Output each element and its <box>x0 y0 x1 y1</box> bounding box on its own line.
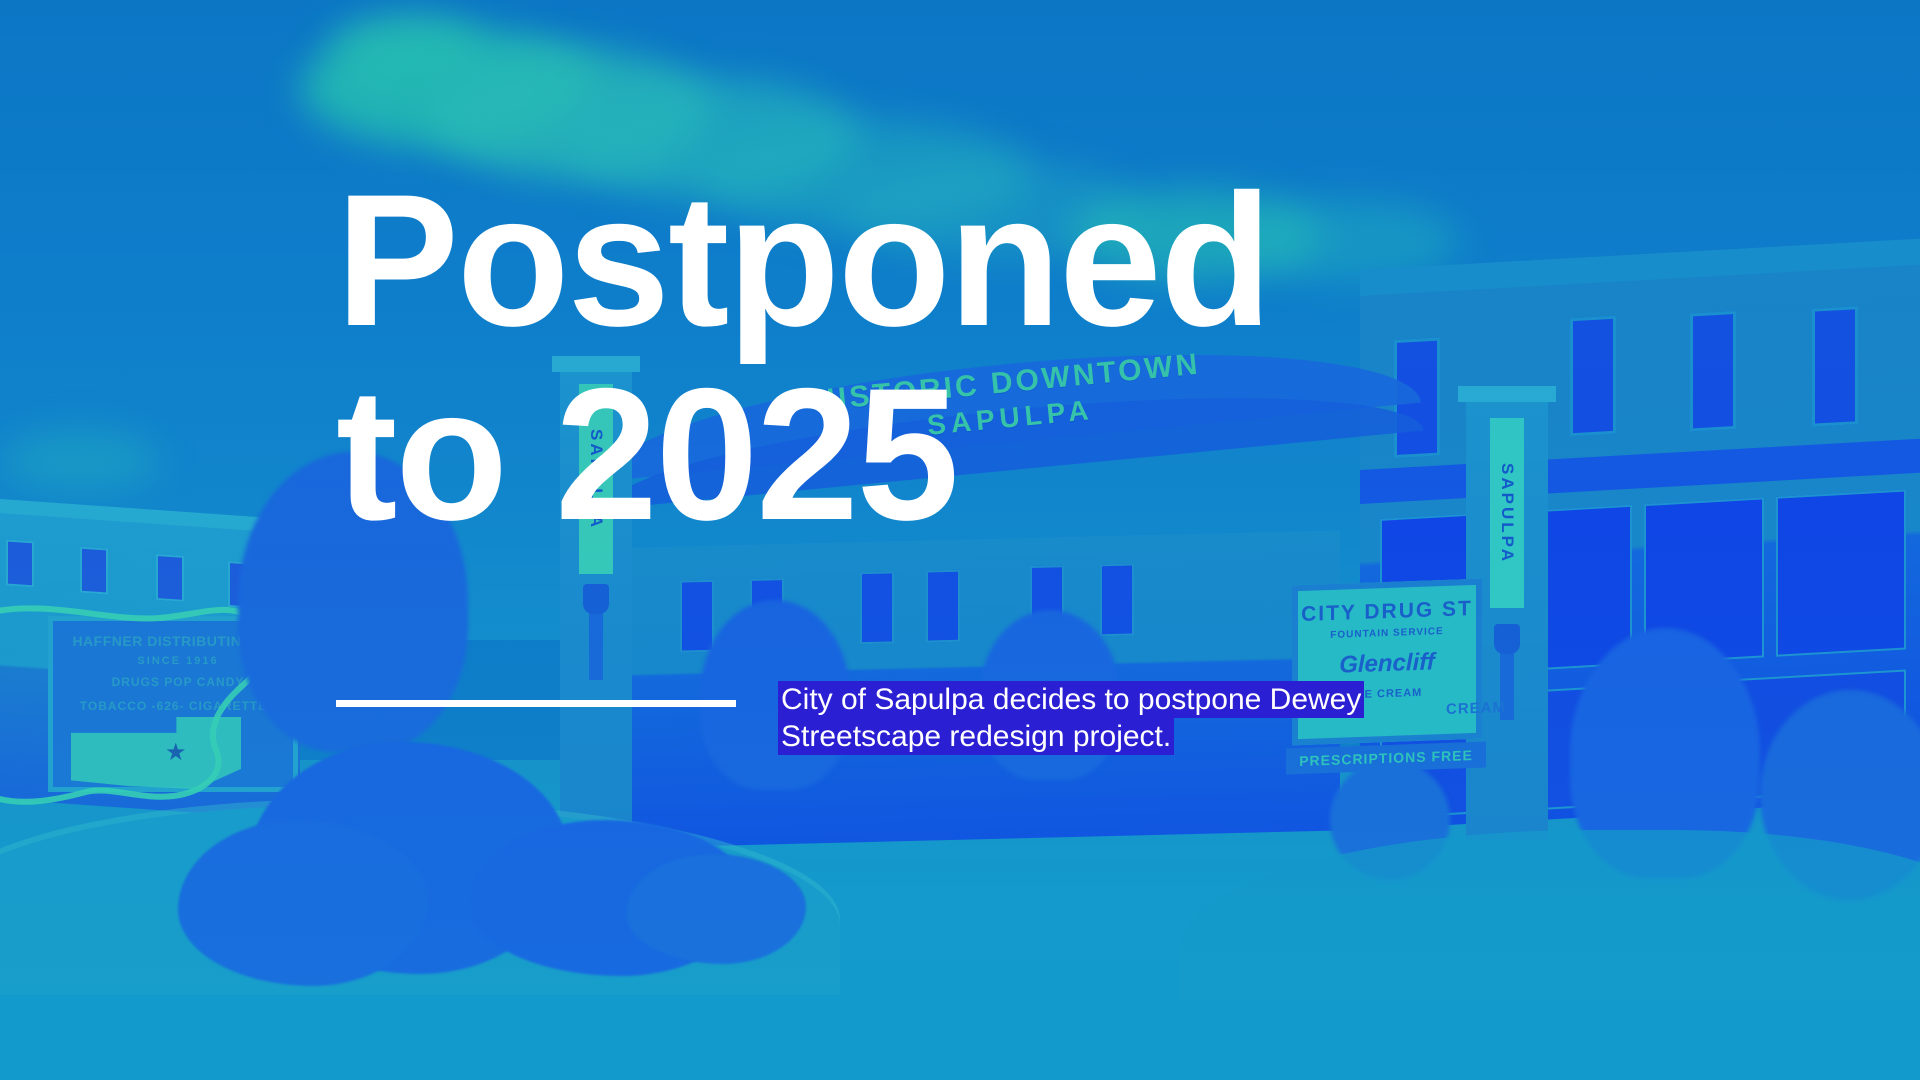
lamp-post <box>589 610 603 680</box>
window <box>860 571 894 644</box>
cloud-shape <box>0 430 160 490</box>
horizontal-divider <box>336 700 736 707</box>
lamp-head-icon <box>1494 624 1520 654</box>
storefront-glass <box>1776 489 1906 656</box>
mural-line-4: TOBACCO -626- CIGARETTES <box>67 699 289 713</box>
window <box>680 580 714 653</box>
window <box>1100 564 1134 637</box>
shrub <box>626 854 806 964</box>
window <box>156 554 184 602</box>
window <box>926 570 960 643</box>
headline-line-2: to 2025 <box>336 362 1630 546</box>
lamp-head-icon <box>583 584 609 614</box>
window <box>1812 306 1858 427</box>
oklahoma-map-shape <box>71 717 241 789</box>
window <box>80 547 108 595</box>
drug-sign-line-1: CITY DRUG ST <box>1298 597 1476 627</box>
hero-banner: HAFFNER DISTRIBUTING CO. SINCE 1916 DRUG… <box>0 0 1920 1080</box>
headline-line-1: Postponed <box>336 168 1630 352</box>
page-title: Postponed to 2025 <box>336 168 1630 546</box>
subtitle: City of Sapulpa decides to postpone Dewe… <box>778 682 1478 755</box>
drug-sign-line-2: FOUNTAIN SERVICE <box>1298 625 1476 642</box>
map-star-icon: ★ <box>165 741 187 765</box>
window <box>6 539 34 587</box>
subtitle-text: City of Sapulpa decides to postpone Dewe… <box>778 681 1364 755</box>
window <box>1690 311 1736 432</box>
drug-sign-line-3: Glencliff <box>1298 647 1476 681</box>
shrub <box>178 820 428 986</box>
